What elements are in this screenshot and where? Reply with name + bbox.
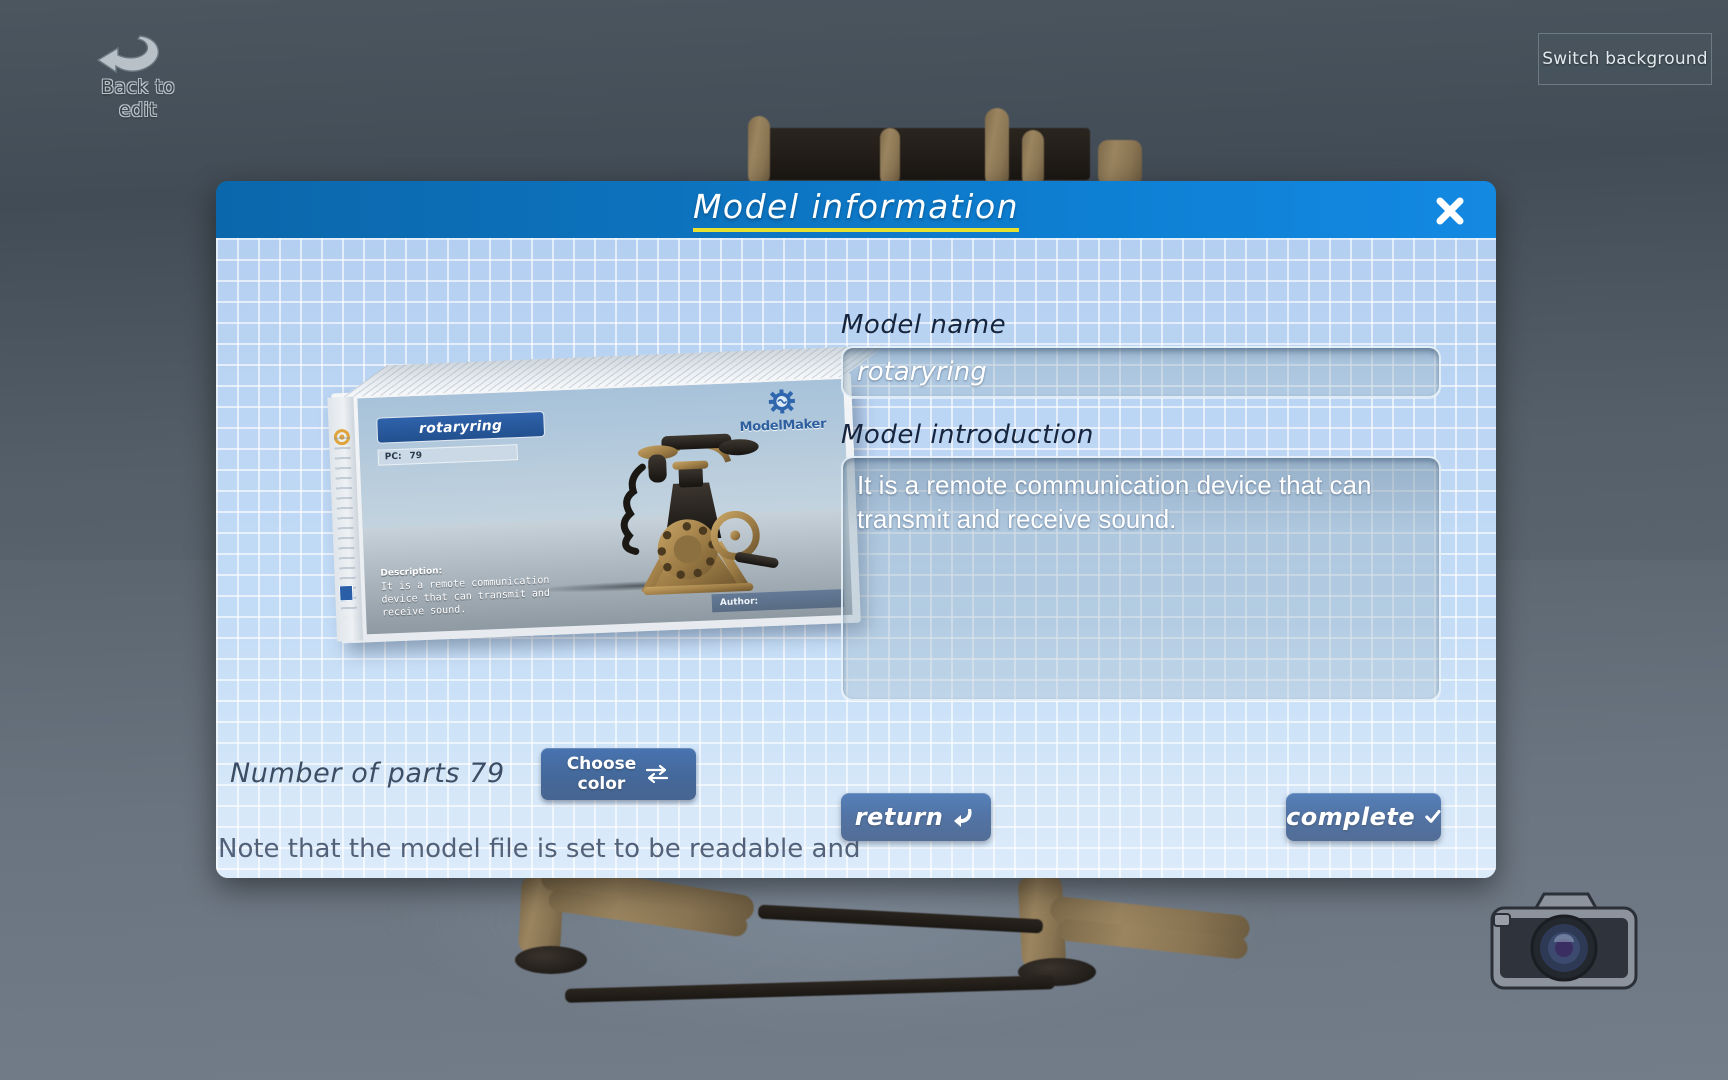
box-model-name: rotaryring bbox=[419, 418, 503, 437]
model-name-value: rotaryring bbox=[857, 357, 987, 387]
antique-rotary-telephone-illustration bbox=[582, 424, 799, 617]
choose-color-label-line2: color bbox=[567, 774, 637, 794]
return-button[interactable]: return bbox=[841, 793, 991, 841]
model-box-preview[interactable]: rotaryring PC: 79 Description: It is a r… bbox=[331, 373, 861, 644]
dialog-titlebar: Model information bbox=[216, 181, 1496, 238]
dialog-title: Model information bbox=[693, 187, 1019, 232]
model-introduction-value: It is a remote communication device that… bbox=[857, 470, 1379, 534]
complete-label: complete bbox=[1286, 803, 1415, 831]
box-author-label: Author: bbox=[720, 597, 759, 609]
parts-count-label: Number of parts 79 bbox=[230, 758, 505, 789]
model-name-label: Model name bbox=[841, 310, 1441, 340]
screenshot-camera-button[interactable] bbox=[1488, 886, 1640, 994]
back-to-edit-label-line2: edit bbox=[68, 99, 208, 122]
box-brand: ModelMaker bbox=[729, 387, 835, 435]
switch-background-label: Switch background bbox=[1542, 49, 1708, 69]
gear-icon bbox=[766, 389, 797, 416]
readonly-note: Note that the model file is set to be re… bbox=[218, 834, 918, 864]
app-scene: Back to edit Switch background Model inf… bbox=[0, 0, 1728, 1080]
dialog-body: rotaryring PC: 79 Description: It is a r… bbox=[216, 238, 1496, 878]
curved-back-arrow-icon bbox=[96, 32, 172, 76]
machine-post-2 bbox=[880, 128, 900, 186]
dialog-action-row: return complete bbox=[841, 793, 1441, 849]
complete-button[interactable]: complete bbox=[1286, 793, 1441, 841]
switch-background-button[interactable]: Switch background bbox=[1538, 33, 1712, 85]
model-introduction-label: Model introduction bbox=[841, 420, 1441, 450]
box-front-artwork: rotaryring PC: 79 Description: It is a r… bbox=[357, 379, 852, 634]
return-arrow-icon bbox=[953, 806, 977, 828]
machine-post-3 bbox=[985, 108, 1009, 188]
model-form: Model name rotaryring Model introduction… bbox=[841, 310, 1441, 701]
camera-icon bbox=[1488, 886, 1640, 994]
machine-post-1 bbox=[748, 116, 770, 186]
box-description-text: It is a remote communication device that… bbox=[381, 574, 557, 620]
box-pc-value: 79 bbox=[409, 451, 422, 461]
box-author-bar: Author: bbox=[712, 589, 845, 612]
back-arrow-wrap bbox=[68, 32, 208, 76]
machine-foot-left bbox=[515, 946, 587, 974]
box-description-block: Description: It is a remote communicatio… bbox=[380, 562, 557, 620]
form-spacer bbox=[841, 398, 1441, 420]
model-introduction-textarea[interactable]: It is a remote communication device that… bbox=[841, 456, 1441, 701]
box-spine-badge bbox=[339, 585, 354, 602]
back-to-edit-label-line1: Back to bbox=[68, 76, 208, 99]
close-button[interactable] bbox=[1428, 189, 1472, 233]
checkmark-icon bbox=[1425, 805, 1441, 829]
machine-post-4 bbox=[1022, 130, 1044, 188]
return-label: return bbox=[855, 803, 944, 831]
choose-color-button[interactable]: Choose color bbox=[541, 748, 696, 800]
model-information-dialog: Model information bbox=[216, 181, 1496, 878]
box-pc-label: PC: bbox=[385, 452, 402, 463]
machine-knob bbox=[1098, 140, 1142, 186]
swap-arrows-icon bbox=[644, 763, 670, 785]
model-name-input[interactable]: rotaryring bbox=[841, 346, 1441, 398]
choose-color-label-line1: Choose bbox=[567, 754, 637, 774]
close-x-icon bbox=[1432, 193, 1468, 229]
back-to-edit-button[interactable]: Back to edit bbox=[68, 32, 208, 122]
